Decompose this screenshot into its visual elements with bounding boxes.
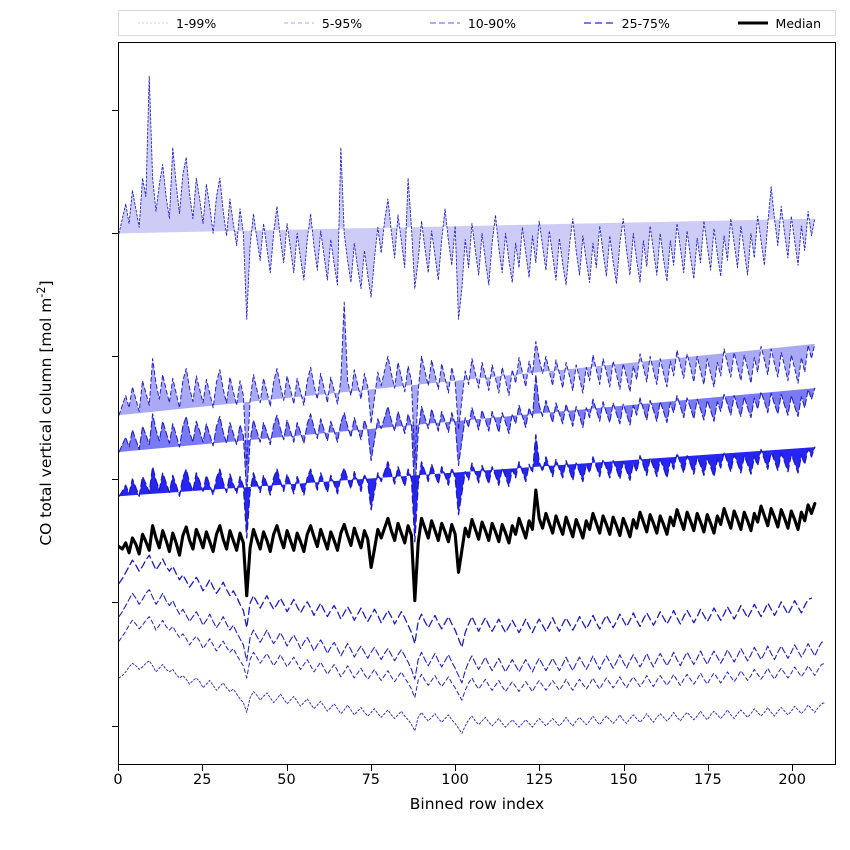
plot-area <box>118 42 836 765</box>
x-tick-mark <box>455 765 456 771</box>
band-p1-p99 <box>119 76 815 319</box>
x-tick-label: 125 <box>526 772 554 788</box>
legend-item-5-95[interactable]: 5-95% <box>283 11 429 35</box>
legend-label: 1-99% <box>176 16 216 31</box>
legend-swatch <box>737 17 769 29</box>
x-tick-label: 50 <box>277 772 295 788</box>
y-tick-mark <box>112 356 118 357</box>
series-line-p99 <box>119 76 815 319</box>
x-tick-mark <box>792 765 793 771</box>
series-line-p10 <box>119 590 825 683</box>
y-tick-mark <box>112 110 118 111</box>
legend-label: 5-95% <box>322 16 362 31</box>
x-tick-label: 75 <box>362 772 380 788</box>
y-tick-mark <box>112 726 118 727</box>
x-tick-label: 150 <box>610 772 638 788</box>
y-tick-mark <box>112 479 118 480</box>
x-tick-label: 175 <box>694 772 722 788</box>
legend-swatch <box>283 17 315 29</box>
series-line-p25 <box>119 555 811 647</box>
y-axis-label-exponent: -2 <box>35 287 48 298</box>
chart-legend: 1-99%5-95%10-90%25-75%Median <box>118 10 836 36</box>
legend-label: Median <box>776 16 821 31</box>
legend-label: 25-75% <box>622 16 670 31</box>
legend-swatch <box>137 17 169 29</box>
x-tick-mark <box>624 765 625 771</box>
legend-label: 10-90% <box>468 16 516 31</box>
x-axis-label: Binned row index <box>118 795 836 813</box>
legend-item-1-99[interactable]: 1-99% <box>137 11 283 35</box>
x-tick-mark <box>539 765 540 771</box>
x-tick-mark <box>708 765 709 771</box>
x-tick-label: 25 <box>193 772 211 788</box>
chart-svg <box>119 43 835 764</box>
x-tick-mark <box>118 765 119 771</box>
x-tick-label: 0 <box>113 772 122 788</box>
x-tick-mark <box>371 765 372 771</box>
y-axis-label: CO total vertical column [mol m-2] <box>35 93 55 733</box>
legend-swatch <box>583 17 615 29</box>
legend-item-median[interactable]: Median <box>737 11 821 35</box>
x-tick-label: 200 <box>778 772 806 788</box>
y-axis-label-tail: ] <box>37 280 55 286</box>
x-tick-mark <box>202 765 203 771</box>
series-line-p5 <box>119 617 825 701</box>
y-axis-label-text: CO total vertical column [mol m <box>37 298 55 546</box>
x-tick-mark <box>287 765 288 771</box>
legend-item-25-75[interactable]: 25-75% <box>583 11 737 35</box>
y-tick-mark <box>112 233 118 234</box>
x-tick-label: 100 <box>441 772 469 788</box>
legend-item-10-90[interactable]: 10-90% <box>429 11 583 35</box>
y-tick-mark <box>112 602 118 603</box>
series-line-p1 <box>119 661 825 733</box>
chart-root: 1-99%5-95%10-90%25-75%Median CO total ve… <box>0 0 850 850</box>
legend-swatch <box>429 17 461 29</box>
